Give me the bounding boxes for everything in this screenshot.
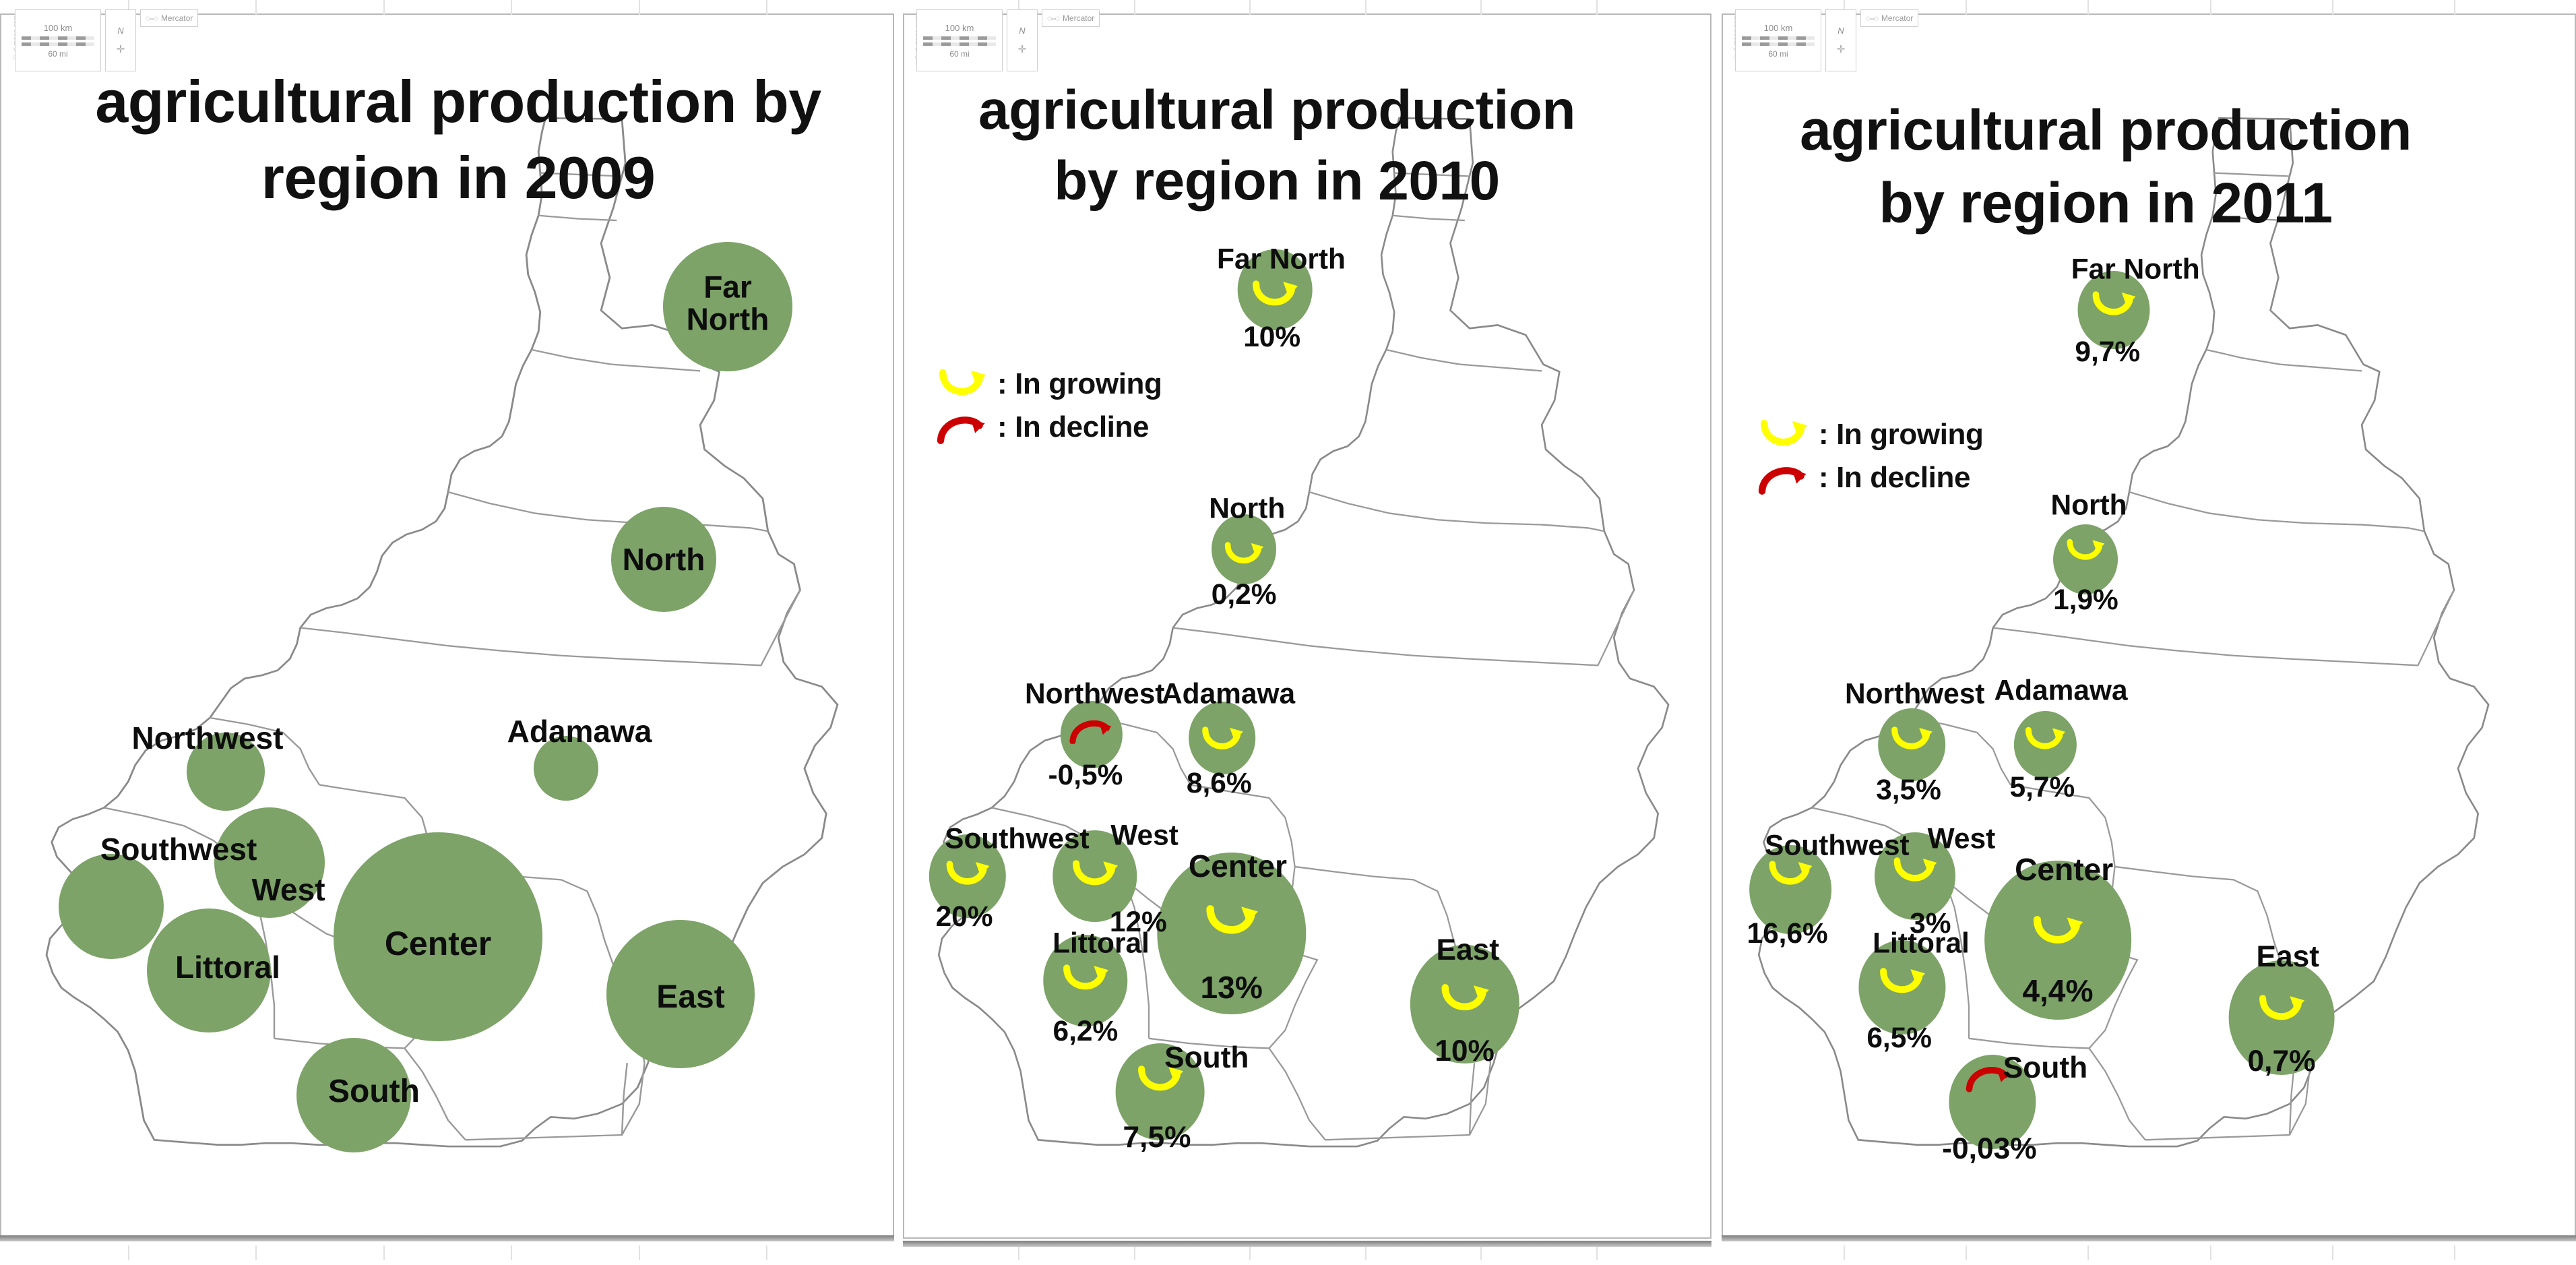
ruler-ticks-bottom (1722, 1245, 2576, 1260)
scale-bar-segments (1742, 42, 1815, 46)
region-label-line: South (2003, 1053, 2087, 1084)
region-value-littoral: 6,5% (1866, 1022, 1932, 1054)
globe-link-icon: ◌–◌ (146, 13, 158, 23)
growing-arrow-icon (943, 859, 993, 890)
legend-decline-label: : In decline (997, 410, 1149, 444)
map-widgets: 100 km60 miN✛◌–◌Mercator (916, 9, 1100, 71)
region-label-line: Center (385, 926, 491, 962)
region-value-east: 0,7% (2248, 1045, 2316, 1078)
scale-bar-segments (22, 42, 94, 46)
trend-arrow-northwest (1888, 725, 1935, 758)
growing-arrow-icon (1199, 725, 1246, 754)
projection-widget: ◌–◌Mercator (1042, 9, 1100, 27)
cameroon-map-outline (908, 40, 1710, 1227)
scale-km-label: 100 km (44, 24, 73, 32)
decline-arrow-icon (1068, 715, 1115, 744)
compass-rose-icon: ✛ (1018, 44, 1027, 55)
region-label-line: Northwest (132, 722, 284, 754)
region-label-far-north: Far North (2071, 255, 2200, 285)
scale-bar-segments (923, 36, 996, 40)
region-value-south: 7,5% (1123, 1121, 1191, 1154)
panel-2010: © d-maps.com100 km60 miN✛◌–◌Mercatoragri… (903, 0, 1711, 1265)
region-label-line: Southwest (1765, 831, 1909, 861)
scale-mi-label: 60 mi (949, 50, 969, 58)
growing-arrow-icon (1437, 982, 1492, 1016)
region-label-center: Center (2015, 853, 2113, 886)
north-letter: N (1837, 26, 1844, 35)
region-label-line: South (328, 1075, 420, 1109)
panel-title-line: agricultural production (1742, 94, 2470, 167)
panel-title: agricultural production byregion in 2009 (94, 64, 822, 216)
projection-label: Mercator (1881, 13, 1913, 23)
region-label-line: Adamawa (1162, 679, 1295, 710)
region-value-center: 13% (1201, 969, 1263, 1006)
region-label-south: South (328, 1075, 420, 1109)
map-area (908, 40, 1710, 1227)
region-value-northwest: -0,5% (1048, 759, 1123, 791)
growing-arrow-icon (2064, 537, 2108, 564)
region-label-north: North (623, 543, 705, 576)
region-label-northwest: Northwest (1845, 679, 1984, 710)
growing-arrow-icon (1877, 966, 1928, 998)
figure-canvas: © d-maps.com100 km60 miN✛◌–◌Mercatoragri… (0, 0, 2576, 1265)
legend-growing-arrow-icon (1757, 418, 1811, 452)
trend-arrow-northwest (1068, 715, 1115, 747)
panel-title-line: agricultural production by (94, 64, 822, 140)
growing-arrow-icon (1201, 903, 1261, 940)
legend-growing-arrow-icon (935, 367, 989, 401)
region-label-far-north: FarNorth (687, 271, 769, 336)
region-label-line: West (1110, 821, 1179, 851)
region-value-adamawa: 8,6% (1187, 767, 1252, 799)
region-label-line: South (1164, 1043, 1249, 1074)
trend-arrow-east (1437, 982, 1492, 1019)
region-label-west: West (1928, 824, 1996, 855)
growing-arrow-icon (1757, 418, 1811, 452)
region-value-center: 4,4% (2022, 973, 2093, 1009)
cameroon-map-outline (13, 40, 883, 1227)
region-label-line: Center (1189, 850, 1287, 882)
region-label-line: Southwest (100, 833, 257, 865)
trend-arrow-center (1201, 903, 1261, 944)
region-label-southwest: Southwest (1765, 831, 1909, 861)
legend-decline-label: : In decline (1819, 461, 1970, 495)
north-letter: N (1019, 26, 1025, 35)
trend-arrow-littoral (1877, 966, 1928, 1001)
region-label-line: North (687, 303, 769, 336)
region-label-line: North (2050, 491, 2127, 521)
growing-arrow-icon (1765, 859, 1815, 890)
region-value-south: -0,03% (1942, 1132, 2036, 1166)
region-value-northwest: 3,5% (1876, 774, 1941, 806)
region-label-far-north: Far North (1217, 245, 1346, 275)
region-value-southwest: 16,6% (1747, 917, 1827, 950)
trend-arrow-adamawa (2022, 725, 2068, 757)
scale-km-label: 100 km (1764, 24, 1793, 32)
region-label-line: Far North (2071, 255, 2200, 285)
legend-growing-label: : In growing (997, 367, 1162, 401)
scale-mi-label: 60 mi (48, 50, 67, 58)
scale-bar-segments (1742, 36, 1815, 40)
region-label-adamawa: Adamawa (507, 715, 652, 747)
scale-bar-widget: 100 km60 mi (1735, 9, 1821, 71)
growing-arrow-icon (1222, 541, 1266, 568)
growing-arrow-icon (1059, 962, 1111, 995)
panel-title-line: by region in 2011 (1742, 167, 2470, 240)
region-label-line: East (656, 981, 724, 1014)
region-label-line: Littoral (1053, 929, 1150, 959)
region-label-line: Adamawa (507, 715, 652, 747)
projection-label: Mercator (1063, 13, 1094, 23)
region-label-littoral: Littoral (1053, 929, 1150, 959)
region-value-far-north: 9,7% (2075, 336, 2140, 368)
panel-title-line: agricultural production (923, 75, 1631, 146)
region-label-line: West (251, 873, 325, 906)
trend-arrow-east (2255, 993, 2307, 1028)
projection-label: Mercator (161, 13, 193, 23)
growing-arrow-icon (2255, 993, 2307, 1025)
region-label-line: East (1436, 935, 1499, 966)
trend-arrow-west (1069, 858, 1121, 894)
region-value-adamawa: 5,7% (2009, 771, 2075, 803)
region-label-southwest: Southwest (945, 824, 1089, 855)
north-letter: N (117, 26, 123, 35)
region-label-line: Far (687, 271, 769, 303)
growing-arrow-icon (2029, 914, 2086, 950)
region-label-line: Littoral (175, 951, 280, 983)
globe-link-icon: ◌–◌ (1047, 13, 1059, 23)
region-label-east: East (1436, 935, 1499, 966)
legend-growing-label: : In growing (1819, 418, 1983, 452)
panel-title-line: region in 2009 (94, 140, 822, 216)
trend-arrow-adamawa (1199, 725, 1246, 758)
region-label-adamawa: Adamawa (1994, 676, 2127, 706)
scale-bar-segments (22, 36, 94, 40)
region-label-line: East (2256, 942, 2319, 973)
legend-decline-arrow-icon (1757, 461, 1811, 495)
region-label-adamawa: Adamawa (1162, 679, 1295, 710)
region-label-south: South (1164, 1043, 1249, 1074)
panel-2011: © d-maps.com100 km60 miN✛◌–◌Mercatoragri… (1722, 0, 2576, 1265)
region-label-line: Adamawa (1994, 676, 2127, 706)
region-label-littoral: Littoral (175, 951, 280, 983)
region-value-north: 0,2% (1212, 578, 1277, 611)
scale-bar-widget: 100 km60 mi (916, 9, 1003, 71)
region-label-line: Southwest (945, 824, 1089, 855)
region-label-east: East (2256, 942, 2319, 973)
region-value-littoral: 6,2% (1053, 1015, 1119, 1047)
compass-rose-icon: ✛ (117, 44, 125, 55)
region-label-line: Northwest (1025, 679, 1164, 710)
panel-2009: © d-maps.com100 km60 miN✛◌–◌Mercatoragri… (0, 0, 894, 1265)
panel-title: agricultural productionby region in 2011 (1742, 94, 2470, 239)
panel-bottom-rule (903, 1241, 1711, 1247)
decline-arrow-icon (1757, 461, 1811, 495)
growing-arrow-icon (1888, 725, 1935, 754)
legend-item-decline: : In decline (935, 410, 1162, 444)
north-arrow-widget: N✛ (105, 9, 136, 71)
region-label-littoral: Littoral (1873, 929, 1970, 959)
region-value-far-north: 10% (1243, 321, 1300, 353)
growing-arrow-icon (935, 367, 989, 401)
region-label-northwest: Northwest (132, 722, 284, 754)
ruler-ticks-bottom (0, 1245, 894, 1260)
region-label-north: North (1209, 494, 1285, 524)
trend-arrow-north (2064, 537, 2108, 567)
legend-item-growing: : In growing (1757, 418, 1983, 452)
trend-arrow-littoral (1059, 962, 1111, 998)
projection-widget: ◌–◌Mercator (140, 9, 198, 27)
region-label-line: Littoral (1873, 929, 1970, 959)
region-label-southwest: Southwest (100, 833, 257, 865)
trend-arrow-far-north (2089, 290, 2139, 324)
trend-arrow-north (1222, 541, 1266, 572)
region-label-north: North (2050, 491, 2127, 521)
legend-item-decline: : In decline (1757, 461, 1983, 495)
region-label-line: Far North (1217, 245, 1346, 275)
compass-rose-icon: ✛ (1837, 44, 1846, 55)
region-label-northwest: Northwest (1025, 679, 1164, 710)
trend-legend: : In growing: In decline (935, 367, 1162, 444)
decline-arrow-icon (935, 410, 989, 444)
region-label-south: South (2003, 1053, 2087, 1084)
map-widgets: 100 km60 miN✛◌–◌Mercator (15, 9, 198, 71)
trend-arrow-center (2029, 914, 2086, 953)
growing-arrow-icon (2089, 290, 2139, 321)
region-label-line: North (1209, 494, 1285, 524)
scale-bar-segments (923, 42, 996, 46)
panel-bottom-rule (0, 1235, 894, 1241)
scale-bar-widget: 100 km60 mi (15, 9, 101, 71)
region-bubble-southwest (59, 854, 164, 959)
map-area (13, 40, 883, 1227)
legend-decline-arrow-icon (935, 410, 989, 444)
region-label-east: East (656, 981, 724, 1014)
growing-arrow-icon (1249, 278, 1301, 311)
globe-link-icon: ◌–◌ (1866, 13, 1878, 23)
trend-arrow-southwest (1765, 859, 1815, 894)
panel-bottom-rule (1722, 1235, 2576, 1241)
region-label-line: North (623, 543, 705, 576)
map-widgets: 100 km60 miN✛◌–◌Mercator (1735, 9, 1918, 71)
trend-arrow-southwest (943, 859, 993, 894)
projection-widget: ◌–◌Mercator (1860, 9, 1918, 27)
growing-arrow-icon (2022, 725, 2068, 753)
north-arrow-widget: N✛ (1825, 9, 1856, 71)
trend-legend: : In growing: In decline (1757, 418, 1983, 495)
region-label-center: Center (1189, 850, 1287, 882)
region-value-north: 1,9% (2053, 584, 2118, 616)
growing-arrow-icon (1069, 858, 1121, 890)
region-label-line: Northwest (1845, 679, 1984, 710)
trend-arrow-far-north (1249, 278, 1301, 314)
region-value-southwest: 20% (936, 900, 993, 933)
region-label-line: West (1928, 824, 1996, 855)
scale-km-label: 100 km (945, 24, 974, 32)
region-label-west: West (1110, 821, 1179, 851)
region-label-line: Center (2015, 853, 2113, 886)
panel-title: agricultural productionby region in 2010 (923, 75, 1631, 217)
region-label-west: West (251, 873, 325, 906)
scale-mi-label: 60 mi (1768, 50, 1788, 58)
region-value-east: 10% (1435, 1035, 1495, 1068)
legend-item-growing: : In growing (935, 367, 1162, 401)
ruler-ticks-bottom (903, 1245, 1711, 1260)
north-arrow-widget: N✛ (1007, 9, 1038, 71)
panel-title-line: by region in 2010 (923, 146, 1631, 217)
region-label-center: Center (385, 926, 491, 962)
